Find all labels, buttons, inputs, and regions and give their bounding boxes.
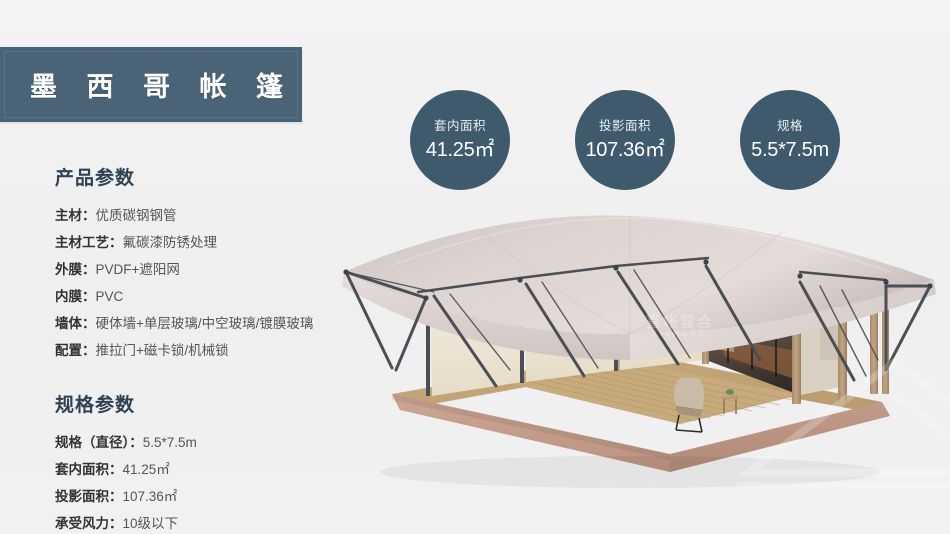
product-row: 外膜：PVDF+遮阳网 (55, 256, 365, 283)
badge-label: 套内面积 (434, 120, 486, 133)
page-title: 墨 西 哥 帐 篷 (0, 65, 294, 104)
product-params-heading: 产品参数 (55, 163, 365, 190)
row-value: 10级以下 (123, 516, 179, 531)
badge-value: 107.36㎡ (585, 140, 664, 160)
spec-row: 投影面积：107.36㎡ (55, 483, 365, 510)
row-label: 主材工艺： (55, 235, 123, 250)
stat-badge-size: 规格 5.5*7.5m (740, 90, 840, 190)
product-row: 主材工艺：氟碳漆防锈处理 (55, 229, 365, 256)
slide-root: 墨 西 哥 帐 篷 产品参数 主材：优质碳钢钢管 主材工艺：氟碳漆防锈处理 外膜… (0, 0, 950, 534)
row-label: 外膜： (55, 262, 96, 277)
row-label: 墙体： (55, 316, 96, 331)
spec-row: 规格（直径）：5.5*7.5m (55, 429, 365, 456)
tent-rendering: 喜帐营合 XIZHANG (330, 210, 950, 534)
product-row: 配置：推拉门+磁卡锁/机械锁 (55, 337, 365, 364)
row-label: 承受风力： (55, 516, 123, 531)
badge-label: 规格 (777, 120, 803, 133)
row-value: 硬体墙+单层玻璃/中空玻璃/镀膜玻璃 (96, 316, 314, 331)
spec-row: 套内面积：41.25㎡ (55, 456, 365, 483)
row-value: 氟碳漆防锈处理 (123, 235, 218, 250)
row-label: 套内面积： (55, 462, 123, 477)
row-value: 推拉门+磁卡锁/机械锁 (96, 343, 229, 358)
row-label: 规格（直径）： (55, 435, 143, 450)
stat-badge-interior-area: 套内面积 41.25㎡ (410, 90, 510, 190)
badge-value: 5.5*7.5m (751, 140, 829, 160)
product-row: 墙体：硬体墙+单层玻璃/中空玻璃/镀膜玻璃 (55, 310, 365, 337)
row-label: 投影面积： (55, 489, 123, 504)
row-value: 5.5*7.5m (143, 435, 197, 450)
row-value: 107.36㎡ (123, 489, 178, 504)
badge-value: 41.25㎡ (426, 140, 494, 160)
product-row: 主材：优质碳钢钢管 (55, 202, 365, 229)
row-value: PVDF+遮阳网 (96, 262, 180, 277)
row-value: 优质碳钢钢管 (96, 208, 177, 223)
row-label: 主材： (55, 208, 96, 223)
stat-badge-projected-area: 投影面积 107.36㎡ (575, 90, 675, 190)
title-banner: 墨 西 哥 帐 篷 (0, 47, 302, 122)
product-row: 内膜：PVC (55, 283, 365, 310)
tent-illustration-svg (330, 210, 950, 534)
row-value: PVC (96, 289, 124, 304)
row-value: 41.25㎡ (123, 462, 170, 477)
spec-params-heading: 规格参数 (55, 390, 365, 417)
row-label: 配置： (55, 343, 96, 358)
badge-label: 投影面积 (599, 120, 651, 133)
spec-row: 承受风力：10级以下 (55, 510, 365, 534)
specs-column: 产品参数 主材：优质碳钢钢管 主材工艺：氟碳漆防锈处理 外膜：PVDF+遮阳网 … (55, 163, 365, 534)
row-label: 内膜： (55, 289, 96, 304)
